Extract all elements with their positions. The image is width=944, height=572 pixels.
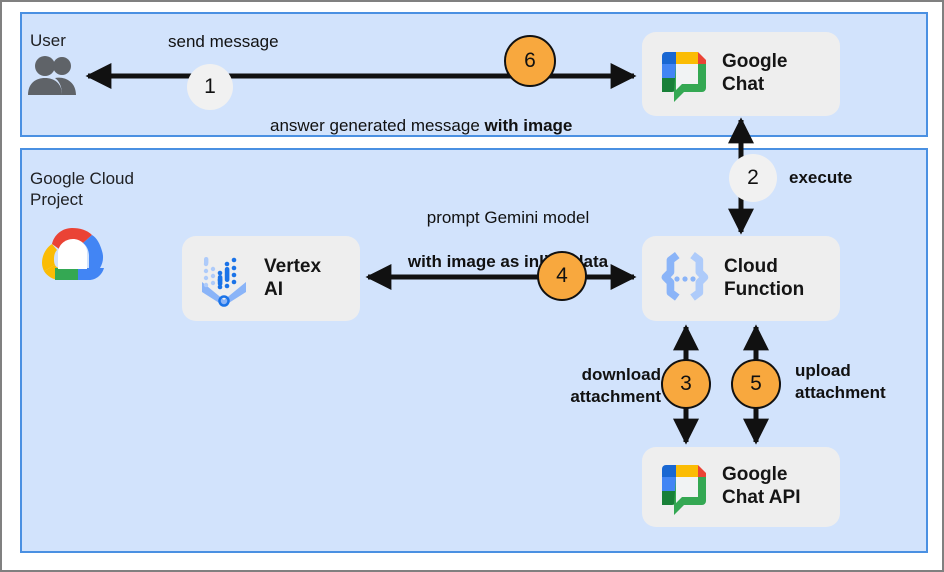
card-google-chat-api[interactable]: Google Chat API [642, 447, 840, 527]
label-download-attachment: download attachment [501, 364, 661, 408]
panel-user-title: User [30, 30, 66, 51]
users-icon [26, 55, 80, 97]
label-prompt-gemini: prompt Gemini model with image as inline… [383, 185, 633, 295]
google-chat-logo-icon [656, 46, 712, 102]
label-upload-attachment: upload attachment [795, 360, 935, 404]
panel-google-cloud-project-title: Google Cloud Project [30, 168, 134, 211]
card-google-chat[interactable]: Google Chat [642, 32, 840, 116]
step-badge-4: 4 [537, 251, 587, 301]
google-cloud-logo-icon [38, 224, 106, 284]
label-execute: execute [789, 167, 852, 189]
step-badge-5: 5 [731, 359, 781, 409]
cloud-function-logo-icon [656, 250, 714, 308]
step-badge-6: 6 [504, 35, 556, 87]
vertex-ai-logo-icon [196, 250, 254, 308]
label-prompt-line2: with image as inline data [383, 251, 633, 273]
diagram-canvas: User Google Cloud Project Google Chat [0, 0, 944, 572]
card-vertex-ai-label: Vertex AI [264, 256, 321, 302]
card-google-chat-api-label: Google Chat API [722, 464, 800, 510]
google-chat-api-logo-icon [656, 459, 712, 515]
card-cloud-function-label: Cloud Function [724, 256, 804, 302]
step-badge-1: 1 [187, 64, 233, 110]
card-vertex-ai[interactable]: Vertex AI [182, 236, 360, 321]
label-answer-regular: answer generated message [270, 116, 485, 135]
step-badge-3: 3 [661, 359, 711, 409]
step-badge-2: 2 [729, 154, 777, 202]
card-cloud-function[interactable]: Cloud Function [642, 236, 840, 321]
label-answer-generated-message: answer generated message with image [270, 93, 572, 137]
card-google-chat-label: Google Chat [722, 51, 787, 97]
label-send-message: send message [168, 31, 279, 53]
label-prompt-line1: prompt Gemini model [383, 207, 633, 229]
label-answer-bold: with image [485, 116, 573, 135]
